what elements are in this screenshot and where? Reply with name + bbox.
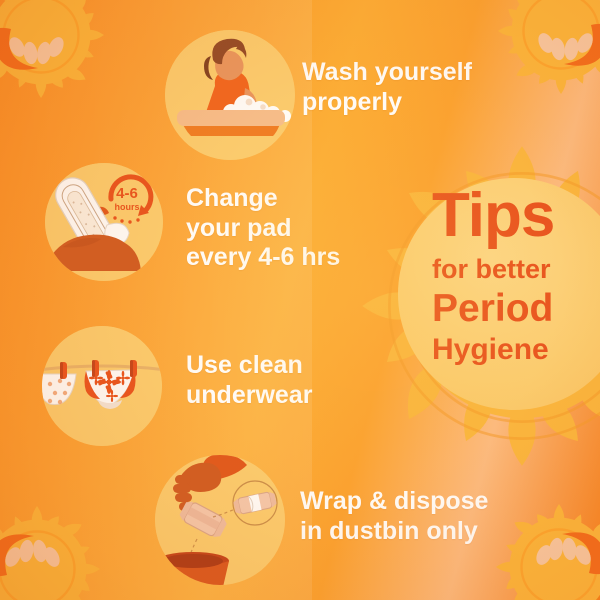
page-title: Tips for better Period Hygiene [432, 186, 600, 368]
title-line-for-better: for better [432, 252, 600, 286]
svg-text:4-6: 4-6 [116, 185, 138, 202]
tip-label-change-pad-line3: every 4-6 hrs [186, 243, 391, 273]
tip-label-dispose: Wrap & dispose in dustbin only [300, 487, 550, 546]
tip-label-wash: Wash yourself properly [302, 58, 532, 117]
hand-dropping-wrapped-pad-in-dustbin-icon [155, 455, 285, 585]
tip-label-dispose-line1: Wrap & dispose [300, 487, 550, 517]
underwear-on-clothesline-icon [42, 326, 162, 446]
mandala-top-left-icon [0, 0, 116, 110]
tip-label-clean-underwear: Use clean underwear [186, 351, 396, 410]
period-hygiene-infographic: Tips for better Period Hygiene [0, 0, 600, 600]
tip-label-change-pad-line1: Change [186, 184, 391, 214]
tip-label-underwear-line2: underwear [186, 381, 396, 411]
svg-text:hours: hours [114, 202, 139, 212]
title-line-hygiene: Hygiene [432, 332, 600, 367]
woman-in-bathtub-icon [165, 30, 295, 160]
tip-label-wash-line1: Wash yourself [302, 58, 532, 88]
title-line-tips: Tips [432, 186, 600, 246]
tip-label-change-pad-line2: your pad [186, 214, 391, 244]
title-line-period: Period [432, 287, 600, 331]
tip-label-underwear-line1: Use clean [186, 351, 396, 381]
hand-holding-sanitary-pad-icon: 4-6 hours [45, 163, 163, 281]
tip-label-dispose-line2: in dustbin only [300, 517, 550, 547]
tip-label-change-pad: Change your pad every 4-6 hrs [186, 184, 391, 273]
mandala-bottom-left-icon [0, 494, 112, 600]
tip-label-wash-line2: properly [302, 88, 532, 118]
